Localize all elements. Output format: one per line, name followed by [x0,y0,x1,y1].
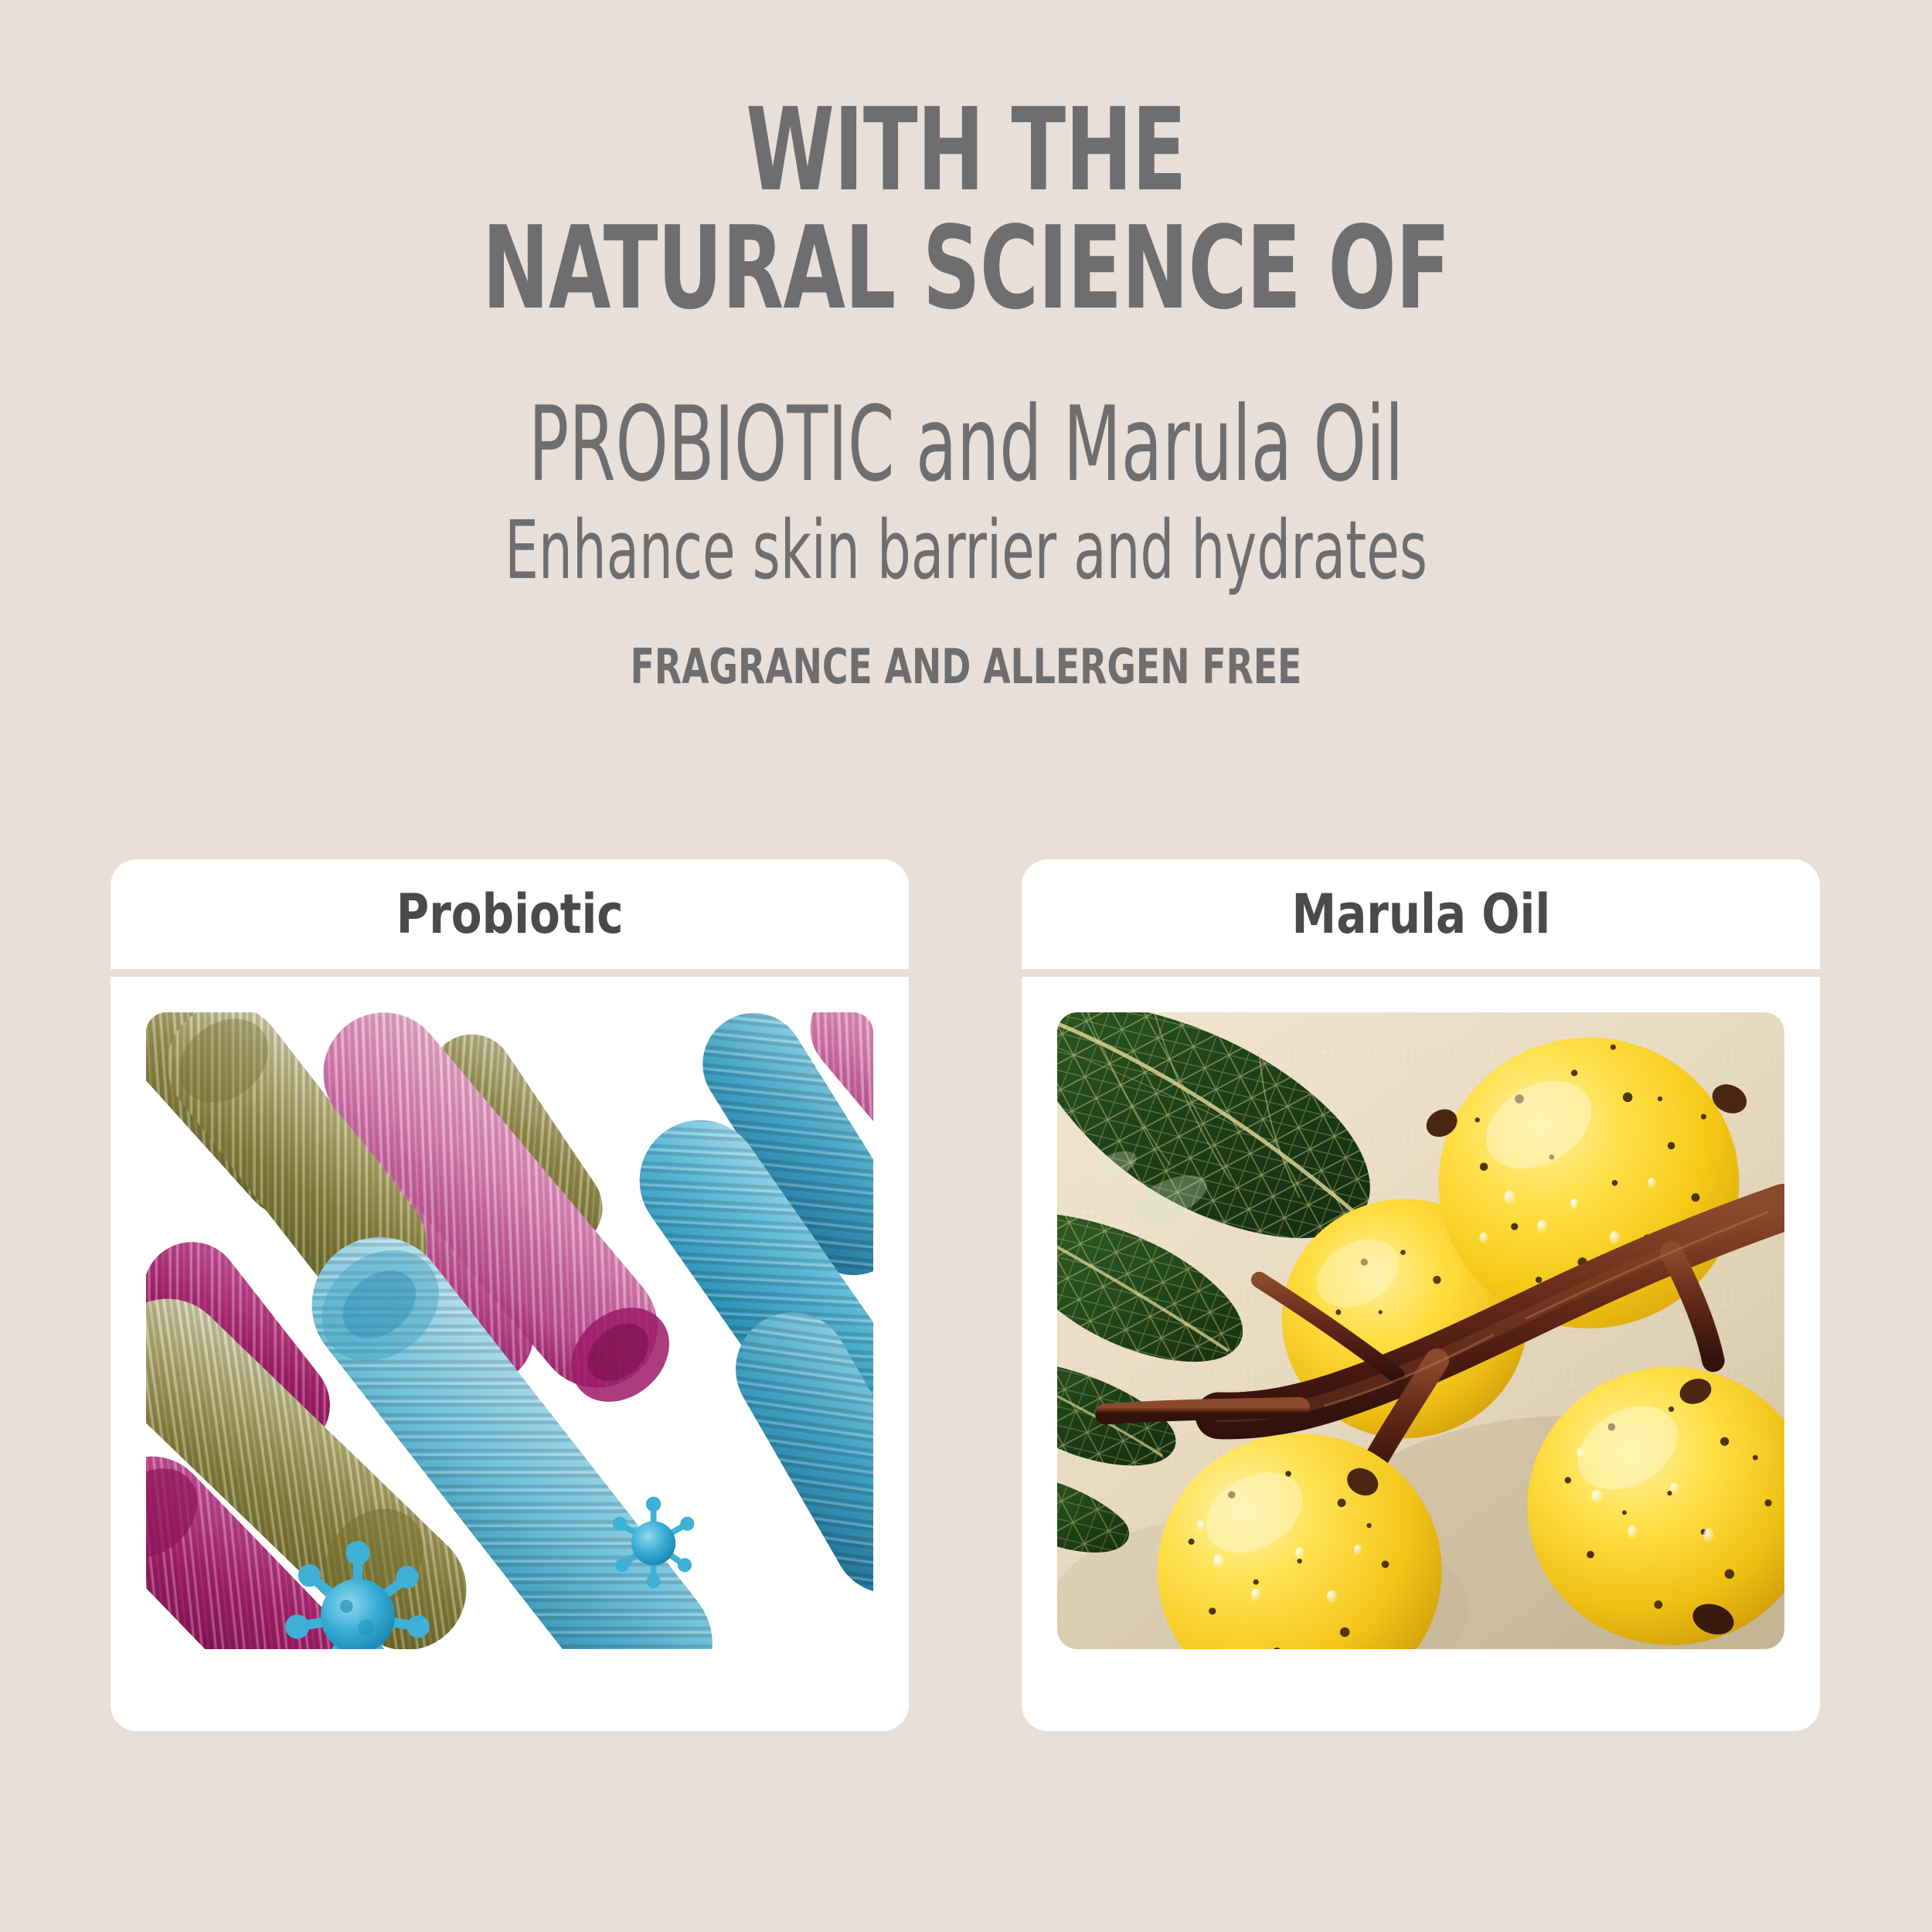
headline-line-1: WITH THE [213,0,1719,207]
card-header-marula-oil: Marula Oil [1022,859,1820,969]
infographic-root: { "background_color": "#e8e0d8", "headli… [0,0,1932,1932]
marula-fruit-image [1057,1012,1784,1649]
tagline-fragrance-allergen-free: FRAGRANCE AND ALLERGEN FREE [174,594,1758,692]
card-body-probiotic [111,977,909,1731]
ingredient-card-marula-oil: Marula Oil [1022,859,1820,1731]
headline-line-2: NATURAL SCIENCE OF [213,207,1719,329]
card-header-probiotic: Probiotic [111,859,909,969]
card-divider-gap-probiotic [111,969,909,977]
card-title-marula-oil: Marula Oil [1291,887,1550,941]
card-title-probiotic: Probiotic [396,887,624,941]
card-divider-gap-marula-oil [1022,969,1820,977]
subheadline-benefit: Enhance skin barrier and hydrates [251,499,1681,594]
ingredient-card-probiotic: Probiotic [111,859,909,1731]
headline-block: WITH THE NATURAL SCIENCE OF PROBIOTIC an… [0,0,1932,692]
probiotic-bacteria-image [146,1012,873,1649]
card-body-marula-oil [1022,977,1820,1731]
subheadline-ingredients: PROBIOTIC and Marula Oil [270,329,1662,499]
